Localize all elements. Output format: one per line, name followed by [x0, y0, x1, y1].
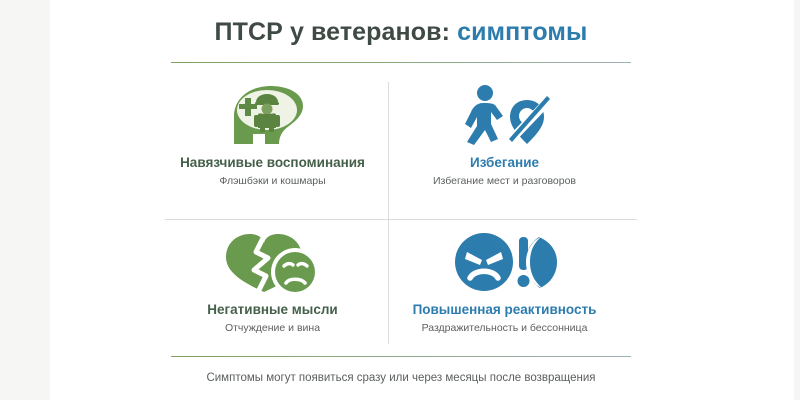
angry-face-exclamation-moon-icon	[453, 229, 557, 295]
infographic-content: ПТСР у ветеранов: симптомы	[157, 0, 645, 400]
footer-divider	[171, 356, 631, 357]
quadrant-avoidance[interactable]: Избегание Избегание мест и разговоров	[389, 74, 620, 214]
page-right-margin	[794, 0, 800, 400]
infographic-canvas: ПТСР у ветеранов: симптомы	[0, 0, 800, 400]
footer-note: Симптомы могут появиться сразу или через…	[157, 372, 645, 384]
quadrant-subtitle: Избегание мест и разговоров	[433, 175, 576, 187]
page-title: ПТСР у ветеранов: симптомы	[157, 18, 645, 47]
quadrant-subtitle: Раздражительность и бессонница	[422, 322, 588, 334]
quadrant-subtitle: Отчуждение и вина	[225, 322, 320, 334]
symptom-grid: Навязчивые воспоминания Флэшбэки и кошма…	[157, 74, 645, 352]
quadrant-subtitle: Флэшбэки и кошмары	[219, 175, 325, 187]
walking-person-no-location-icon	[455, 82, 555, 148]
title-accent: симптомы	[457, 18, 587, 46]
quadrant-label: Повышенная реактивность	[413, 302, 597, 317]
head-soldier-memory-icon	[225, 82, 321, 148]
quadrant-label: Навязчивые воспоминания	[180, 155, 365, 170]
quadrant-negative-thoughts[interactable]: Негативные мысли Отчуждение и вина	[157, 221, 388, 361]
title-divider	[171, 62, 631, 63]
page-left-margin	[0, 0, 50, 400]
broken-heart-sad-face-icon	[220, 229, 326, 295]
quadrant-label: Негативные мысли	[207, 302, 337, 317]
grid-horizontal-divider	[165, 219, 637, 220]
quadrant-intrusive-memories[interactable]: Навязчивые воспоминания Флэшбэки и кошма…	[157, 74, 388, 214]
quadrant-label: Избегание	[470, 155, 539, 170]
title-main: ПТСР у ветеранов:	[215, 18, 450, 46]
quadrant-hyperarousal[interactable]: Повышенная реактивность Раздражительност…	[389, 221, 620, 361]
